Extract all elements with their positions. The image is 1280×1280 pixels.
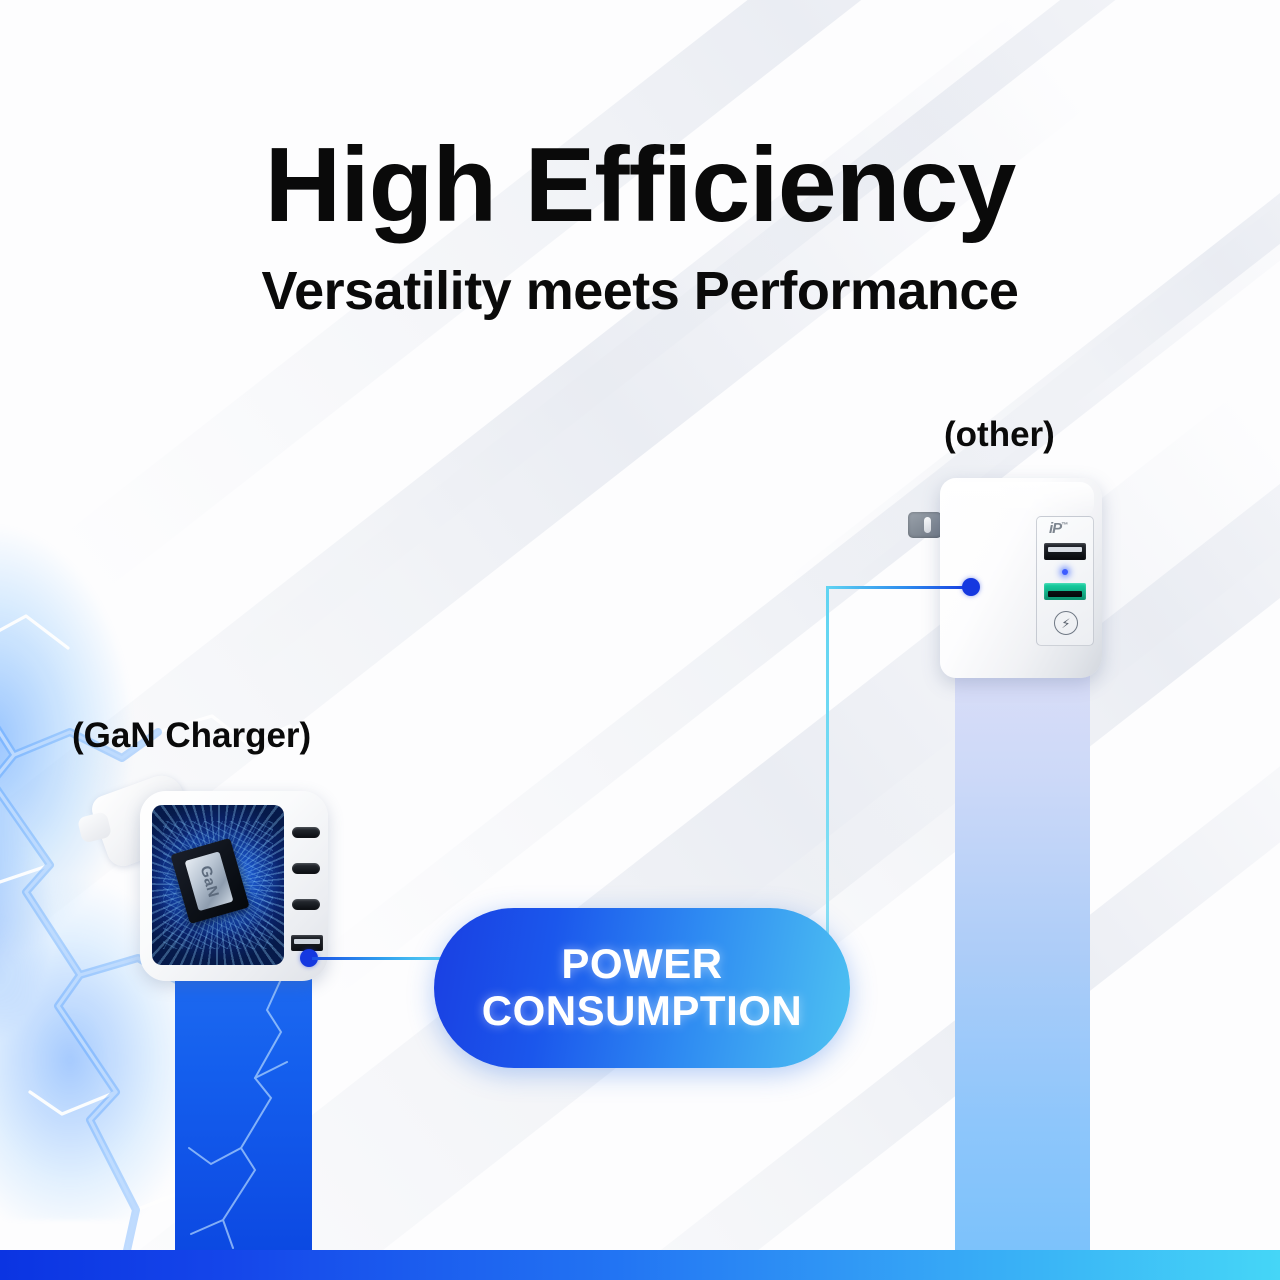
- usb-a-port-quickcharge: [1044, 583, 1086, 600]
- product-marketing-banner: High Efficiency Versatility meets Perfor…: [0, 0, 1280, 1280]
- connector-gan-to-badge: [300, 954, 440, 963]
- connector-other-to-badge: [818, 580, 978, 970]
- ip-brand-logo: iP™: [1049, 520, 1067, 537]
- quick-charge-icon: ⚡: [1054, 611, 1078, 635]
- bar-gan-charger: [175, 958, 312, 1250]
- usb-c-port-2: [292, 863, 320, 874]
- badge-label-line1: POWER: [561, 942, 722, 986]
- headline-block: High Efficiency Versatility meets Perfor…: [0, 132, 1280, 318]
- led-indicator: [1062, 569, 1068, 575]
- usb-c-port-3: [292, 899, 320, 910]
- usb-c-port-1: [292, 827, 320, 838]
- page-title: High Efficiency: [0, 132, 1280, 238]
- gan-chip-graphic: GaN: [152, 805, 284, 965]
- label-other-charger: (other): [944, 415, 1055, 455]
- other-charger-prong: [908, 512, 942, 538]
- badge-label-line2: CONSUMPTION: [482, 988, 803, 1034]
- footer-gradient-band: [0, 1250, 1280, 1280]
- gan-charger-body: GaN: [140, 791, 328, 981]
- page-subtitle: Versatility meets Performance: [0, 264, 1280, 318]
- usb-a-port-standard: [1044, 543, 1086, 560]
- label-gan-charger: (GaN Charger): [72, 716, 311, 756]
- power-consumption-badge: POWER CONSUMPTION: [434, 908, 850, 1068]
- other-charger-port-panel: iP™ ⚡: [1036, 516, 1094, 646]
- connector-dot-other: [962, 578, 980, 596]
- gan-chip-label: GaN: [196, 863, 221, 899]
